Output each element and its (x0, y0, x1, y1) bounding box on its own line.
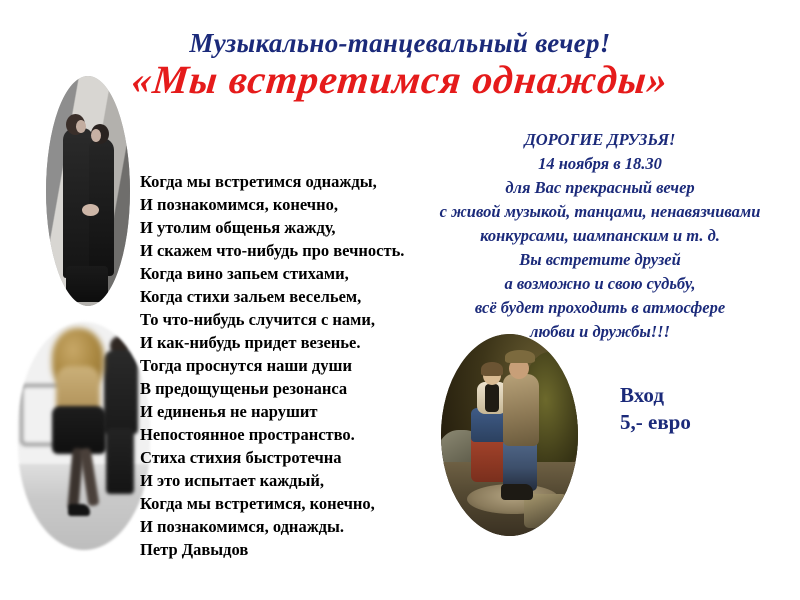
poem-author: Петр Давыдов (140, 538, 430, 561)
dancer-photo-woman-skirt (52, 406, 106, 454)
painting-woman-hair (481, 362, 503, 376)
poem-block: Когда мы встретимся однажды, И познакоми… (140, 170, 430, 561)
poster-title-primary: Музыкально-танцевальный вечер! (0, 28, 800, 59)
poem-line: И как-нибудь придет везенье. (140, 331, 430, 354)
poem-line: В предощущеньи резонанса (140, 377, 430, 400)
dancer-photo-oval (18, 322, 150, 550)
invitation-line: с живой музыкой, танцами, ненавязчивами (400, 200, 800, 224)
invitation-line: Вы встретите друзей (400, 248, 800, 272)
invitation-line: всё будет проходить в атмосфере (400, 296, 800, 320)
poem-line: Непостоянное пространство. (140, 423, 430, 446)
dancer-photo-woman-shoe (68, 504, 90, 516)
invitation-line: конкурсами, шампанским и т. д. (400, 224, 800, 248)
poem-line: Когда мы встретимся однажды, (140, 170, 430, 193)
poem-line: Стиха стихия быстротечна (140, 446, 430, 469)
entrance-price: 5,- евро (620, 409, 691, 436)
poem-line: И познакомимся, однажды. (140, 515, 430, 538)
poem-line: То что-нибудь случится с нами, (140, 308, 430, 331)
couple-photo-man-face (76, 120, 86, 133)
entrance-label: Вход (620, 382, 691, 409)
painting-oval (441, 334, 578, 536)
couple-photo-woman-face (91, 129, 101, 142)
dancer-photo-man-body (104, 350, 138, 434)
poem-line: И единенья не нарушит (140, 400, 430, 423)
painting-woman-bodice (485, 384, 499, 412)
painting-man-hat (505, 350, 535, 363)
entrance-price-block: Вход 5,- евро (620, 382, 691, 436)
invitation-line: для Вас прекрасный вечер (400, 176, 800, 200)
dancer-photo-man-legs (106, 428, 134, 494)
invitation-datetime: 14 ноября в 18.30 (400, 152, 800, 176)
poem-line: Когда мы встретимся, конечно, (140, 492, 430, 515)
invitation-heading: ДОРОГИЕ ДРУЗЬЯ! (400, 128, 800, 152)
poem-line: Тогда проснутся наши души (140, 354, 430, 377)
couple-photo-oval (46, 76, 130, 306)
poem-line: Когда стихи зальем весельем, (140, 285, 430, 308)
invitation-block: ДОРОГИЕ ДРУЗЬЯ! 14 ноября в 18.30 для Ва… (400, 128, 800, 344)
invitation-line: а возможно и свою судьбу, (400, 272, 800, 296)
poster-root: Музыкально-танцевальный вечер! «Мы встре… (0, 0, 800, 600)
poem-line: И познакомимся, конечно, (140, 193, 430, 216)
couple-photo-legs (66, 266, 108, 302)
painting-man-body (503, 374, 539, 446)
painting-man-boots (501, 484, 533, 500)
poem-line: Когда вино запьем стихами, (140, 262, 430, 285)
couple-photo-hands (82, 204, 99, 216)
poem-line: И это испытает каждый, (140, 469, 430, 492)
poem-line: И скажем что-нибудь про вечность. (140, 239, 430, 262)
poem-line: И утолим общенья жажду, (140, 216, 430, 239)
